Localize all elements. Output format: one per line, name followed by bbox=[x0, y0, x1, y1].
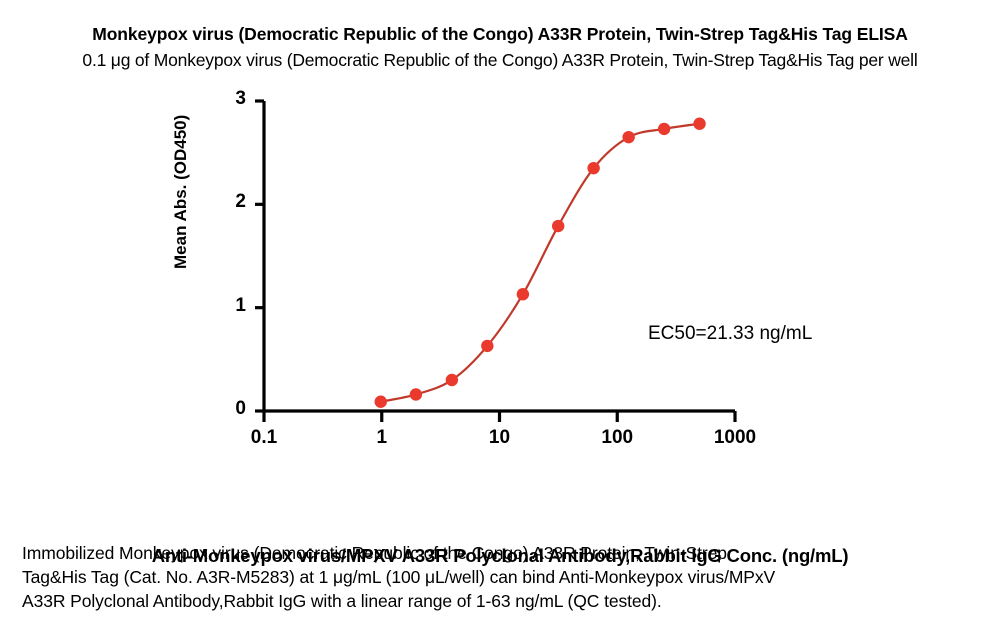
data-point-marker bbox=[446, 374, 458, 386]
caption-line-3: A33R Polyclonal Antibody,Rabbit IgG with… bbox=[22, 589, 922, 613]
x-tick-label: 1 bbox=[337, 427, 427, 449]
x-tick-label: 10 bbox=[455, 427, 545, 449]
x-tick-label: 100 bbox=[572, 427, 662, 449]
caption-line-2: Tag&His Tag (Cat. No. A3R-M5283) at 1 μg… bbox=[22, 565, 922, 589]
data-point-marker bbox=[622, 131, 634, 143]
figure-page: Monkeypox virus (Democratic Republic of … bbox=[0, 0, 1000, 625]
data-point-marker bbox=[693, 118, 705, 130]
fit-curve bbox=[381, 124, 700, 402]
ec50-annotation: EC50=21.33 ng/mL bbox=[648, 323, 812, 345]
caption-line-1: Immobilized Monkeypox virus (Democratic … bbox=[22, 541, 922, 565]
y-axis-title: Mean Abs. (OD450) bbox=[171, 69, 191, 269]
data-point-marker bbox=[658, 123, 670, 135]
data-point-marker bbox=[410, 388, 422, 400]
chart-title: Monkeypox virus (Democratic Republic of … bbox=[0, 24, 1000, 45]
x-tick-label: 1000 bbox=[690, 427, 780, 449]
y-tick-label: 1 bbox=[212, 295, 246, 317]
chart-subtitle: 0.1 μg of Monkeypox virus (Democratic Re… bbox=[0, 50, 1000, 71]
data-point-marker bbox=[517, 288, 529, 300]
y-tick-label: 2 bbox=[212, 191, 246, 213]
data-point-marker bbox=[481, 340, 493, 352]
axes bbox=[255, 101, 735, 422]
data-point-marker bbox=[375, 396, 387, 408]
figure-caption: Immobilized Monkeypox virus (Democratic … bbox=[22, 541, 922, 613]
y-tick-label: 3 bbox=[212, 88, 246, 110]
data-point-marker bbox=[552, 220, 564, 232]
y-tick-label: 0 bbox=[212, 398, 246, 420]
chart-figure: Mean Abs. (OD450) 0123 0.11101001000 EC5… bbox=[0, 82, 1000, 502]
x-tick-label: 0.1 bbox=[219, 427, 309, 449]
data-point-marker bbox=[587, 162, 599, 174]
data-curve bbox=[381, 124, 700, 402]
